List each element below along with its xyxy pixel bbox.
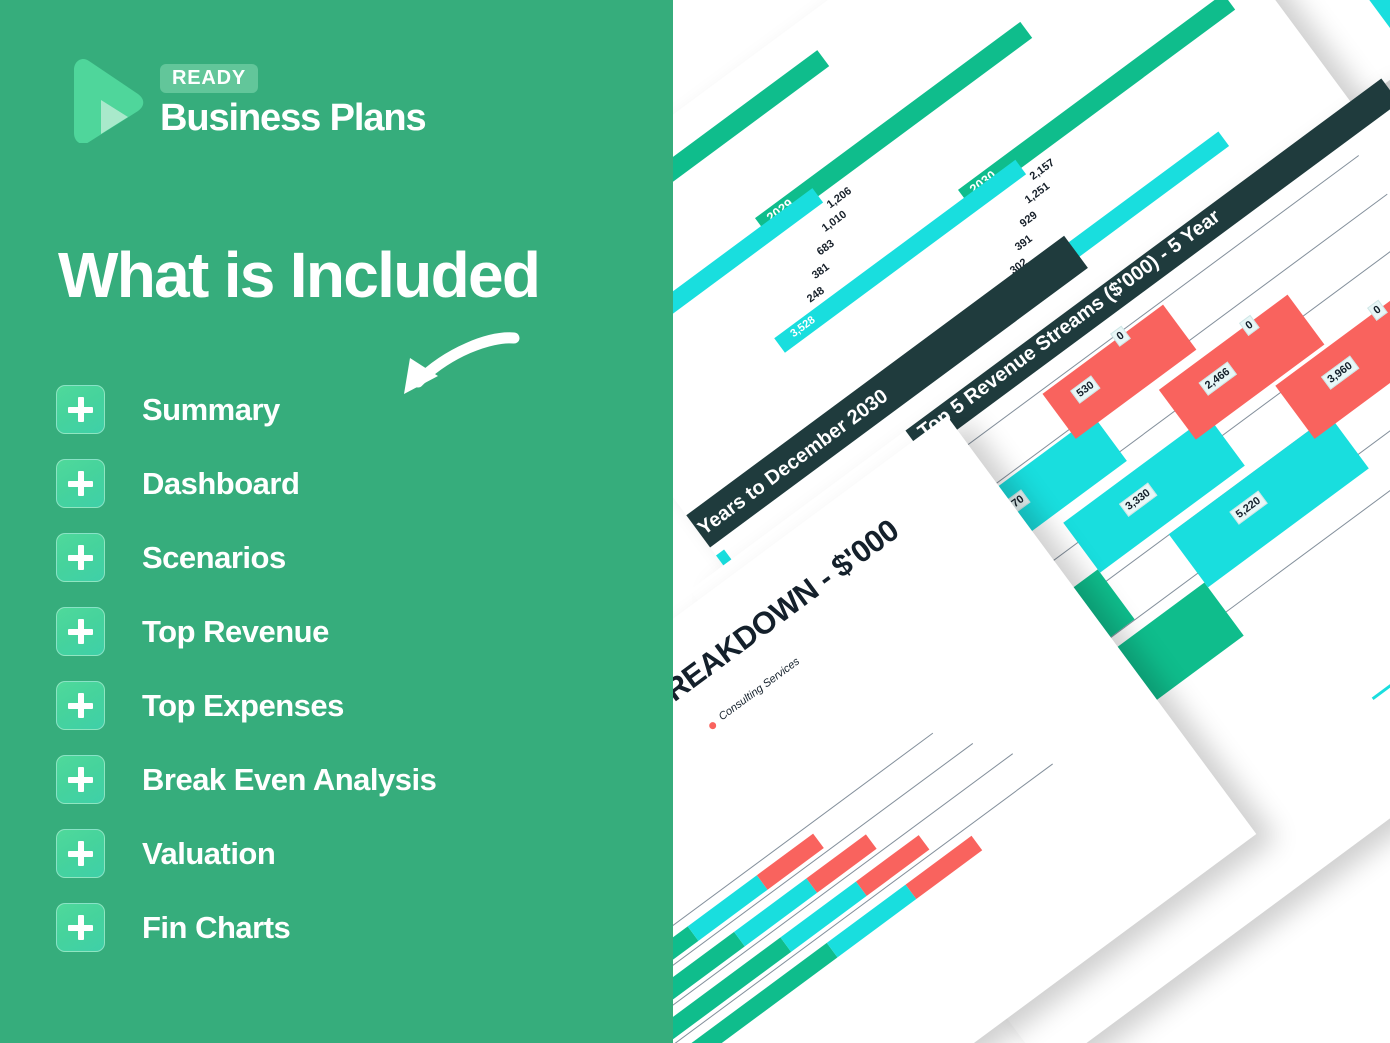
feature-item-valuation[interactable]: Valuation bbox=[56, 829, 616, 878]
plus-icon bbox=[56, 755, 105, 804]
left-info-panel: READY Business Plans What is Included Su… bbox=[0, 0, 673, 1043]
cell-value: 1,206 bbox=[825, 185, 854, 211]
brand-lockup: READY Business Plans bbox=[68, 58, 426, 143]
feature-label: Fin Charts bbox=[142, 910, 290, 946]
plus-icon bbox=[56, 459, 105, 508]
plus-icon bbox=[56, 681, 105, 730]
cell-value: 929 bbox=[1018, 209, 1040, 230]
cell-value: 683 bbox=[815, 238, 837, 259]
feature-label: Top Revenue bbox=[142, 614, 329, 650]
feature-item-top-revenue[interactable]: Top Revenue bbox=[56, 607, 616, 656]
cell-value: 381 bbox=[810, 261, 832, 282]
feature-label: Scenarios bbox=[142, 540, 286, 576]
feature-item-top-expenses[interactable]: Top Expenses bbox=[56, 681, 616, 730]
plus-icon bbox=[56, 385, 105, 434]
feature-item-fin-charts[interactable]: Fin Charts bbox=[56, 903, 616, 952]
legend-mark-other-revenue bbox=[1372, 682, 1390, 700]
feature-label: Dashboard bbox=[142, 466, 299, 502]
play-triangle-icon bbox=[68, 58, 144, 143]
plus-icon bbox=[56, 607, 105, 656]
feature-item-break-even-analysis[interactable]: Break Even Analysis bbox=[56, 755, 616, 804]
plus-icon bbox=[56, 829, 105, 878]
feature-label: Summary bbox=[142, 392, 280, 428]
feature-list: Summary Dashboard Scenarios Top Revenue … bbox=[56, 385, 616, 977]
feature-item-dashboard[interactable]: Dashboard bbox=[56, 459, 616, 508]
cell-value: 1,251 bbox=[1023, 180, 1052, 206]
chart-gridline bbox=[635, 753, 1013, 1033]
cell-value: 2,157 bbox=[1028, 157, 1057, 183]
poster-canvas: ame e of Contents 128.9 2028 bbox=[0, 0, 1390, 1043]
feature-label: Top Expenses bbox=[142, 688, 344, 724]
ready-badge: READY bbox=[160, 64, 258, 93]
brand-text-block: READY Business Plans bbox=[160, 58, 426, 139]
plus-icon bbox=[56, 903, 105, 952]
document-collage: ame e of Contents 128.9 2028 bbox=[620, 0, 1390, 1043]
page-title: What is Included bbox=[58, 243, 539, 307]
cell-value: 391 bbox=[1013, 233, 1035, 254]
feature-label: Break Even Analysis bbox=[142, 762, 436, 798]
feature-item-scenarios[interactable]: Scenarios bbox=[56, 533, 616, 582]
cell-value: 1,010 bbox=[820, 209, 849, 235]
plus-icon bbox=[56, 533, 105, 582]
feature-item-summary[interactable]: Summary bbox=[56, 385, 616, 434]
legend-dot-consulting bbox=[708, 721, 718, 731]
brand-name: Business Plans bbox=[160, 99, 426, 139]
feature-label: Valuation bbox=[142, 836, 275, 872]
